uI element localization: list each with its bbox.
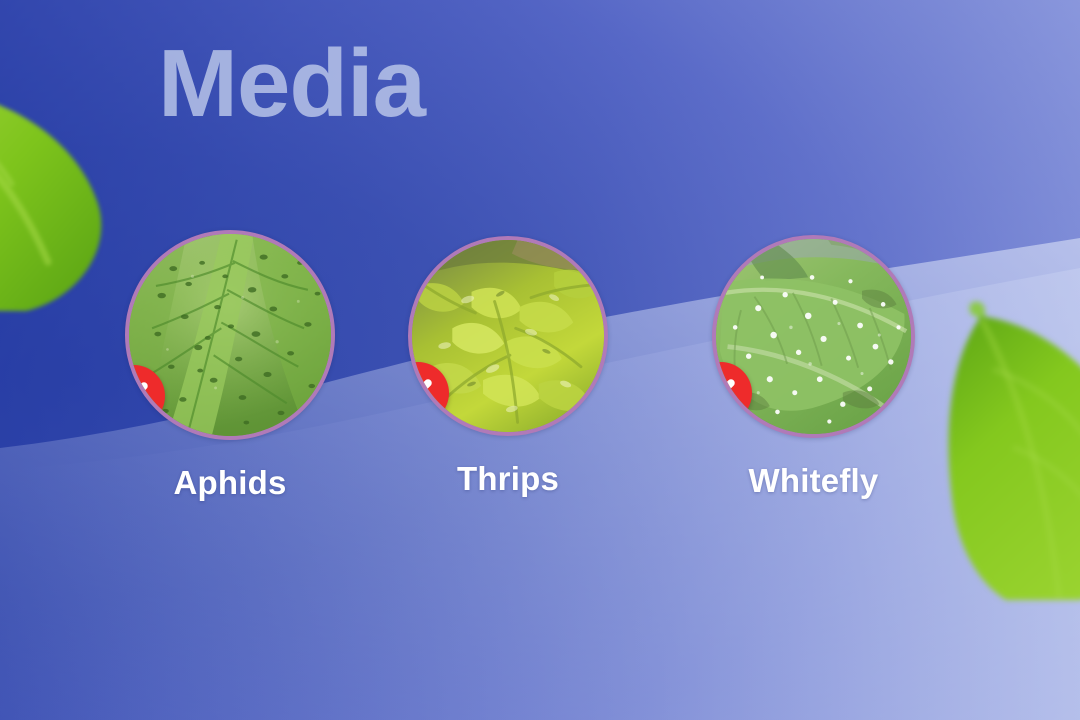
media-card-label: Aphids [173,464,286,502]
media-card-thrips[interactable]: Thrips [408,236,608,498]
media-card-aphids[interactable]: Aphids [125,230,335,502]
media-card-label: Thrips [457,460,559,498]
media-thumbnail-aphids[interactable] [125,230,335,440]
media-gallery: Aphids [0,230,1080,502]
media-card-label: Whitefly [749,462,879,500]
page-title: Media [158,34,425,135]
media-card-whitefly[interactable]: Whitefly [712,235,915,500]
media-slide: Media [0,0,1080,720]
media-thumbnail-thrips[interactable] [408,236,608,436]
media-thumbnail-whitefly[interactable] [712,235,915,438]
